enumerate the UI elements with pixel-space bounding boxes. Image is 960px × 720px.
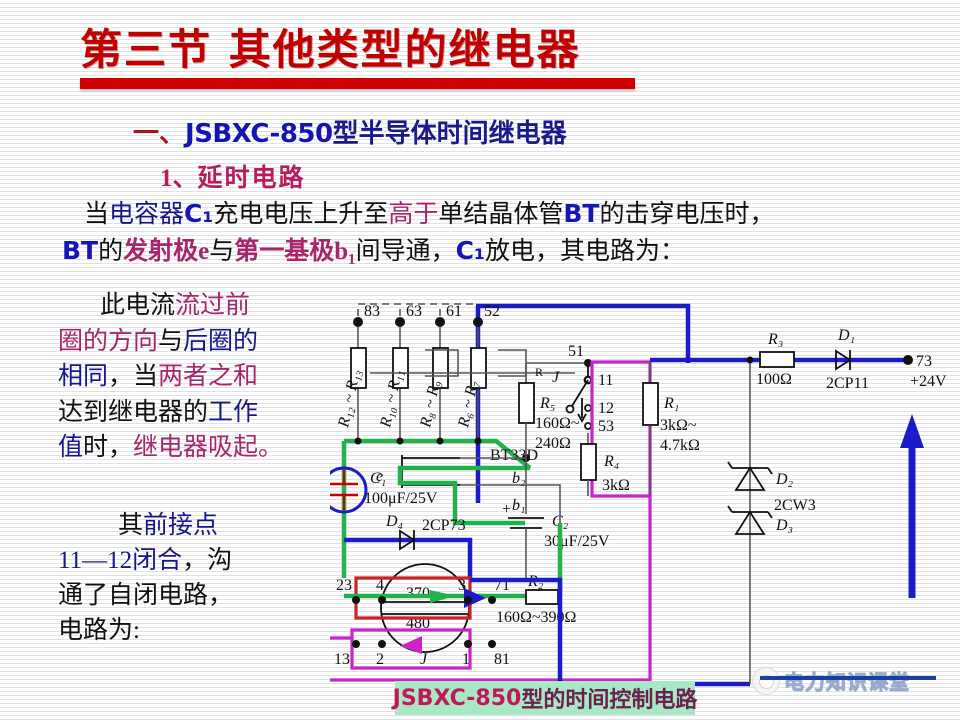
label-R4: R₄ <box>603 453 619 470</box>
label-D3: D₃ <box>775 517 793 534</box>
figure-caption: JSBXC-850型的时间控制电路 <box>395 681 695 715</box>
slide-stage: 第三节 其他类型的继电器 一、JSBXC-850型半导体时间继电器 1、延时电路… <box>0 0 960 720</box>
txt: 工作 <box>208 399 258 426</box>
relay-J-label: J <box>552 369 560 386</box>
txt: 达到继电器的 <box>58 399 208 426</box>
terminal-label-23: 23 <box>336 577 352 594</box>
terminal-label-13: 13 <box>334 651 350 668</box>
txt: 放电 <box>485 238 535 265</box>
heading2-text: 延时电路 <box>198 165 306 192</box>
heading1-model: JSBXC-850 <box>185 119 333 149</box>
value-D4: 2CP73 <box>422 517 466 534</box>
terminal-label-1: 1 <box>462 651 470 668</box>
terminal-label-3: 3 <box>458 577 466 594</box>
blue-wire-D4 <box>344 540 470 580</box>
section-heading-2: 1、延时电路 <box>160 158 306 194</box>
left-line-4: 达到继电器的工作 <box>58 395 320 431</box>
b1-branch-wire <box>460 485 560 578</box>
txt: 发射极e <box>123 238 209 265</box>
txt: 电路为: <box>58 617 140 644</box>
label-D2: D₂ <box>775 471 794 488</box>
value-R4: 3kΩ <box>602 477 630 494</box>
value-D1: 2CP11 <box>826 375 869 392</box>
label-R12-R13: R₁₂ ~ R₁₃ <box>335 368 364 430</box>
terminal-label-11: 11 <box>598 372 613 389</box>
txt: 流过前 <box>175 292 250 319</box>
terminal-label-61: 61 <box>446 303 462 320</box>
txt: 前接点 <box>143 512 218 539</box>
value-R1-b: 4.7kΩ <box>660 437 700 454</box>
terminal-label-83: 83 <box>364 303 380 320</box>
left-lower-paragraph: 其前接点 11—12闭合，沟 通了自闭电路， 电路为: <box>58 508 326 648</box>
value-R5-b: 240Ω <box>535 435 571 452</box>
txt: 后圈的 <box>183 328 258 355</box>
txt: BT <box>563 199 599 228</box>
txt: 两者之和 <box>158 363 258 390</box>
resistor-R4 <box>581 433 596 496</box>
title-underline-bar <box>80 78 635 89</box>
watermark-strike-bar <box>760 676 936 680</box>
intro-line-2: BT的发射极e与第一基极b₁间导通，C₁放电，其电路为： <box>62 233 952 270</box>
txt: 时， <box>83 434 133 461</box>
txt: 电容器 <box>109 201 184 228</box>
title-block: 第三节 其他类型的继电器 <box>80 28 720 89</box>
txt: ，当 <box>108 363 158 390</box>
terminal-label-73: 73 <box>916 353 932 370</box>
resistor-R3 <box>760 352 794 367</box>
terminal-label-63: 63 <box>406 303 422 320</box>
value-C2: 30μF/25V <box>544 533 610 550</box>
left-line-2: 圈的方向与后圈的 <box>58 324 320 360</box>
heading2-sep: 、 <box>173 165 198 192</box>
leftbox-line-3: 通了自闭电路， <box>58 578 326 613</box>
txt: 与 <box>209 238 234 265</box>
label-R5: R₅ <box>539 395 555 412</box>
txt: 高于 <box>388 201 438 228</box>
watermark: 电力知识课堂 <box>752 666 910 695</box>
c2-polarity: + <box>502 501 511 518</box>
supply-label-24v: +24V <box>910 373 947 390</box>
c1-polarity: + <box>330 463 331 480</box>
txt: 充电电压上升至 <box>213 201 388 228</box>
section-heading-1: 一、JSBXC-850型半导体时间继电器 <box>133 113 567 150</box>
txt: ，沟 <box>182 547 232 574</box>
intro-line-1: 当电容器C₁充电电压上升至高于单结晶体管BT的击穿电压时， <box>62 196 952 233</box>
txt: 的 <box>98 238 123 265</box>
value-R3: 100Ω <box>756 371 792 388</box>
heading2-marker: 1 <box>160 165 173 192</box>
leftbox-line-2: 11—12闭合，沟 <box>58 543 326 578</box>
contact-pins-11-12-53: 11 12 53 <box>578 372 614 435</box>
circuit-diagram: .w{stroke:#555;stroke-width:1.6;fill:non… <box>330 278 960 698</box>
watermark-text: 电力知识课堂 <box>784 666 910 695</box>
value-R2: 160Ω~390Ω <box>496 609 577 626</box>
left-line-1: 此电流流过前 <box>58 288 320 324</box>
left-paragraph: 此电流流过前 圈的方向与后圈的 相同，当两者之和 达到继电器的工作 值时，继电器… <box>58 288 320 466</box>
heading1-marker: 一、 <box>133 119 185 148</box>
txt: 值 <box>58 434 83 461</box>
left-line-3: 相同，当两者之和 <box>58 359 320 395</box>
txt: 圈的方向 <box>58 328 158 355</box>
txt: 此电流 <box>100 292 175 319</box>
coil-arrow-magenta <box>400 636 422 654</box>
txt: C₁ <box>184 199 213 228</box>
label-R10-R11: R₁₀ ~ R₁₁ <box>377 368 406 430</box>
terminal-label-51: 51 <box>568 343 584 360</box>
heading1-rest: 型半导体时间继电器 <box>333 119 567 148</box>
terminal-node-73 <box>903 355 913 365</box>
ujt-pin-e: e <box>376 468 383 485</box>
leftbox-line-4: 电路为: <box>58 613 326 648</box>
watermark-logo-icon <box>752 667 780 695</box>
txt: BT <box>62 236 98 265</box>
value-D2: 2CW3 <box>774 497 816 514</box>
page-title: 第三节 其他类型的继电器 <box>80 28 720 72</box>
coil-arrow-green <box>430 590 456 603</box>
label-R-extra: R <box>535 365 543 379</box>
txt: ，其电路为： <box>535 238 685 265</box>
value-C1: 100μF/25V <box>364 490 438 507</box>
terminal-label-52: 52 <box>484 303 500 320</box>
label-R3: R₃ <box>767 331 783 348</box>
label-D4: D₄ <box>385 513 403 530</box>
capacitor-C1: + <box>330 463 366 512</box>
label-BT33D: BT33D <box>490 447 538 464</box>
terminal-label-81: 81 <box>494 651 510 668</box>
txt: 通了自闭电路， <box>58 582 233 609</box>
txt: C₁ <box>456 236 485 265</box>
txt: 相同 <box>58 363 108 390</box>
terminal-label-2: 2 <box>376 651 384 668</box>
intro-paragraph: 当电容器C₁充电电压上升至高于单结晶体管BT的击穿电压时， BT的发射极e与第一… <box>62 196 952 269</box>
terminal-label-12: 12 <box>598 400 614 417</box>
txt: 间导通， <box>356 238 456 265</box>
caption-model: JSBXC-850 <box>393 686 522 711</box>
txt: 当 <box>84 201 109 228</box>
resistor-R2 <box>526 590 558 604</box>
leftbox-line-1: 其前接点 <box>58 508 326 543</box>
label-D1: D₁ <box>837 327 855 344</box>
ujt-pin-b1: b₁ <box>512 497 526 514</box>
txt: 单结晶体管 <box>438 201 563 228</box>
terminal-label-4: 4 <box>376 577 384 594</box>
resistor-tie-2 <box>498 350 526 376</box>
label-R1: R₁ <box>663 395 679 412</box>
txt: 闭合 <box>132 547 182 574</box>
caption-rest: 型的时间控制电路 <box>521 682 697 714</box>
left-line-5: 值时，继电器吸起。 <box>58 430 320 466</box>
terminal-label-53: 53 <box>598 418 614 435</box>
value-R5-a: 160Ω~ <box>535 415 580 432</box>
txt: 11—12 <box>58 547 132 574</box>
value-R1-a: 3kΩ~ <box>660 417 697 434</box>
txt: 与 <box>158 328 183 355</box>
coil-turns-370: 370 <box>406 585 430 602</box>
txt: 第一基极b₁ <box>234 238 355 265</box>
txt: 其 <box>118 512 143 539</box>
resistor-R1 <box>643 362 658 496</box>
txt: 继电器吸起。 <box>133 434 283 461</box>
current-direction-arrow <box>900 414 924 598</box>
txt: 的击穿电压时， <box>599 201 774 228</box>
